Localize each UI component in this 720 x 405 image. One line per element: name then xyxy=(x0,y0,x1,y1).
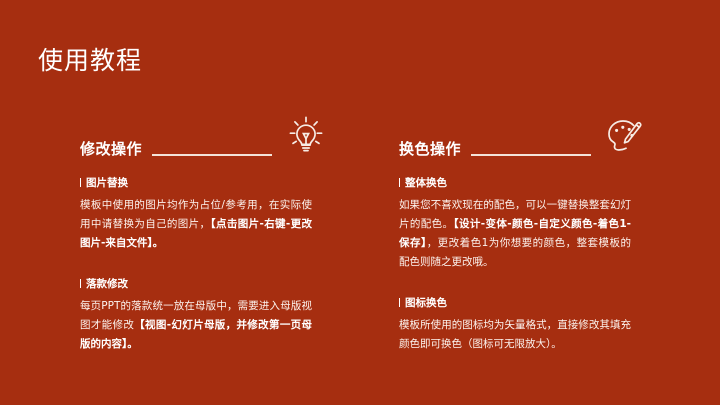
content-columns: 修改操作 xyxy=(0,112,720,354)
section-heading: 落款修改 xyxy=(80,277,385,292)
column-heading-label: 换色操作 xyxy=(399,140,461,160)
heading-bar-marker xyxy=(80,279,81,288)
heading-bar-marker xyxy=(80,178,81,187)
section-heading-label: 图标换色 xyxy=(405,297,447,309)
column-heading-label: 修改操作 xyxy=(80,140,142,160)
heading-divider xyxy=(152,154,272,156)
section-body: 模板所使用的图标均为矢量格式，直接修改其填充颜色即可换色（图标可无限放大）。 xyxy=(399,316,631,354)
section-heading-label: 整体换色 xyxy=(405,177,447,189)
column-modify-operations: 修改操作 xyxy=(80,112,385,354)
column-header-right: 换色操作 xyxy=(399,112,704,160)
section-overall-recolor: 整体换色 如果您不喜欢现在的配色，可以一键替换整套幻灯片的配色。【设计-变体-颜… xyxy=(399,176,704,272)
section-heading: 整体换色 xyxy=(399,176,704,191)
column-recolor-operations: 换色操作 整体换色 如果您不喜欢现在的配色，可以一键替换整 xyxy=(399,112,704,354)
section-heading: 图标换色 xyxy=(399,296,704,311)
section-body: 如果您不喜欢现在的配色，可以一键替换整套幻灯片的配色。【设计-变体-颜色-自定义… xyxy=(399,196,631,272)
lightbulb-icon xyxy=(280,112,332,160)
column-header-left: 修改操作 xyxy=(80,112,385,160)
section-icon-recolor: 图标换色 模板所使用的图标均为矢量格式，直接修改其填充颜色即可换色（图标可无限放… xyxy=(399,296,704,354)
section-body-plain: 模板所使用的图标均为矢量格式，直接修改其填充颜色即可换色（图标可无限放大）。 xyxy=(399,319,631,350)
heading-divider xyxy=(471,154,591,156)
section-image-replace: 图片替换 模板中使用的图片均作为占位/参考用，在实际使用中请替换为自己的图片，【… xyxy=(80,176,385,253)
page-title: 使用教程 xyxy=(38,44,142,78)
palette-icon xyxy=(599,112,651,160)
heading-bar-marker xyxy=(399,298,400,307)
section-body: 模板中使用的图片均作为占位/参考用，在实际使用中请替换为自己的图片，【点击图片-… xyxy=(80,196,312,253)
heading-bar-marker xyxy=(399,178,400,187)
section-heading-label: 落款修改 xyxy=(86,278,128,290)
section-body-tail: ，更改着色1为你想要的颜色，整套模板的配色则随之更改哦。 xyxy=(399,237,631,268)
section-body: 每页PPT的落款统一放在母版中，需要进入母版视图才能修改【视图-幻灯片母版，并修… xyxy=(80,297,312,354)
section-heading-label: 图片替换 xyxy=(86,177,128,189)
section-signature-edit: 落款修改 每页PPT的落款统一放在母版中，需要进入母版视图才能修改【视图-幻灯片… xyxy=(80,277,385,354)
slide-canvas: 使用教程 修改操作 xyxy=(0,0,720,405)
section-heading: 图片替换 xyxy=(80,176,385,191)
